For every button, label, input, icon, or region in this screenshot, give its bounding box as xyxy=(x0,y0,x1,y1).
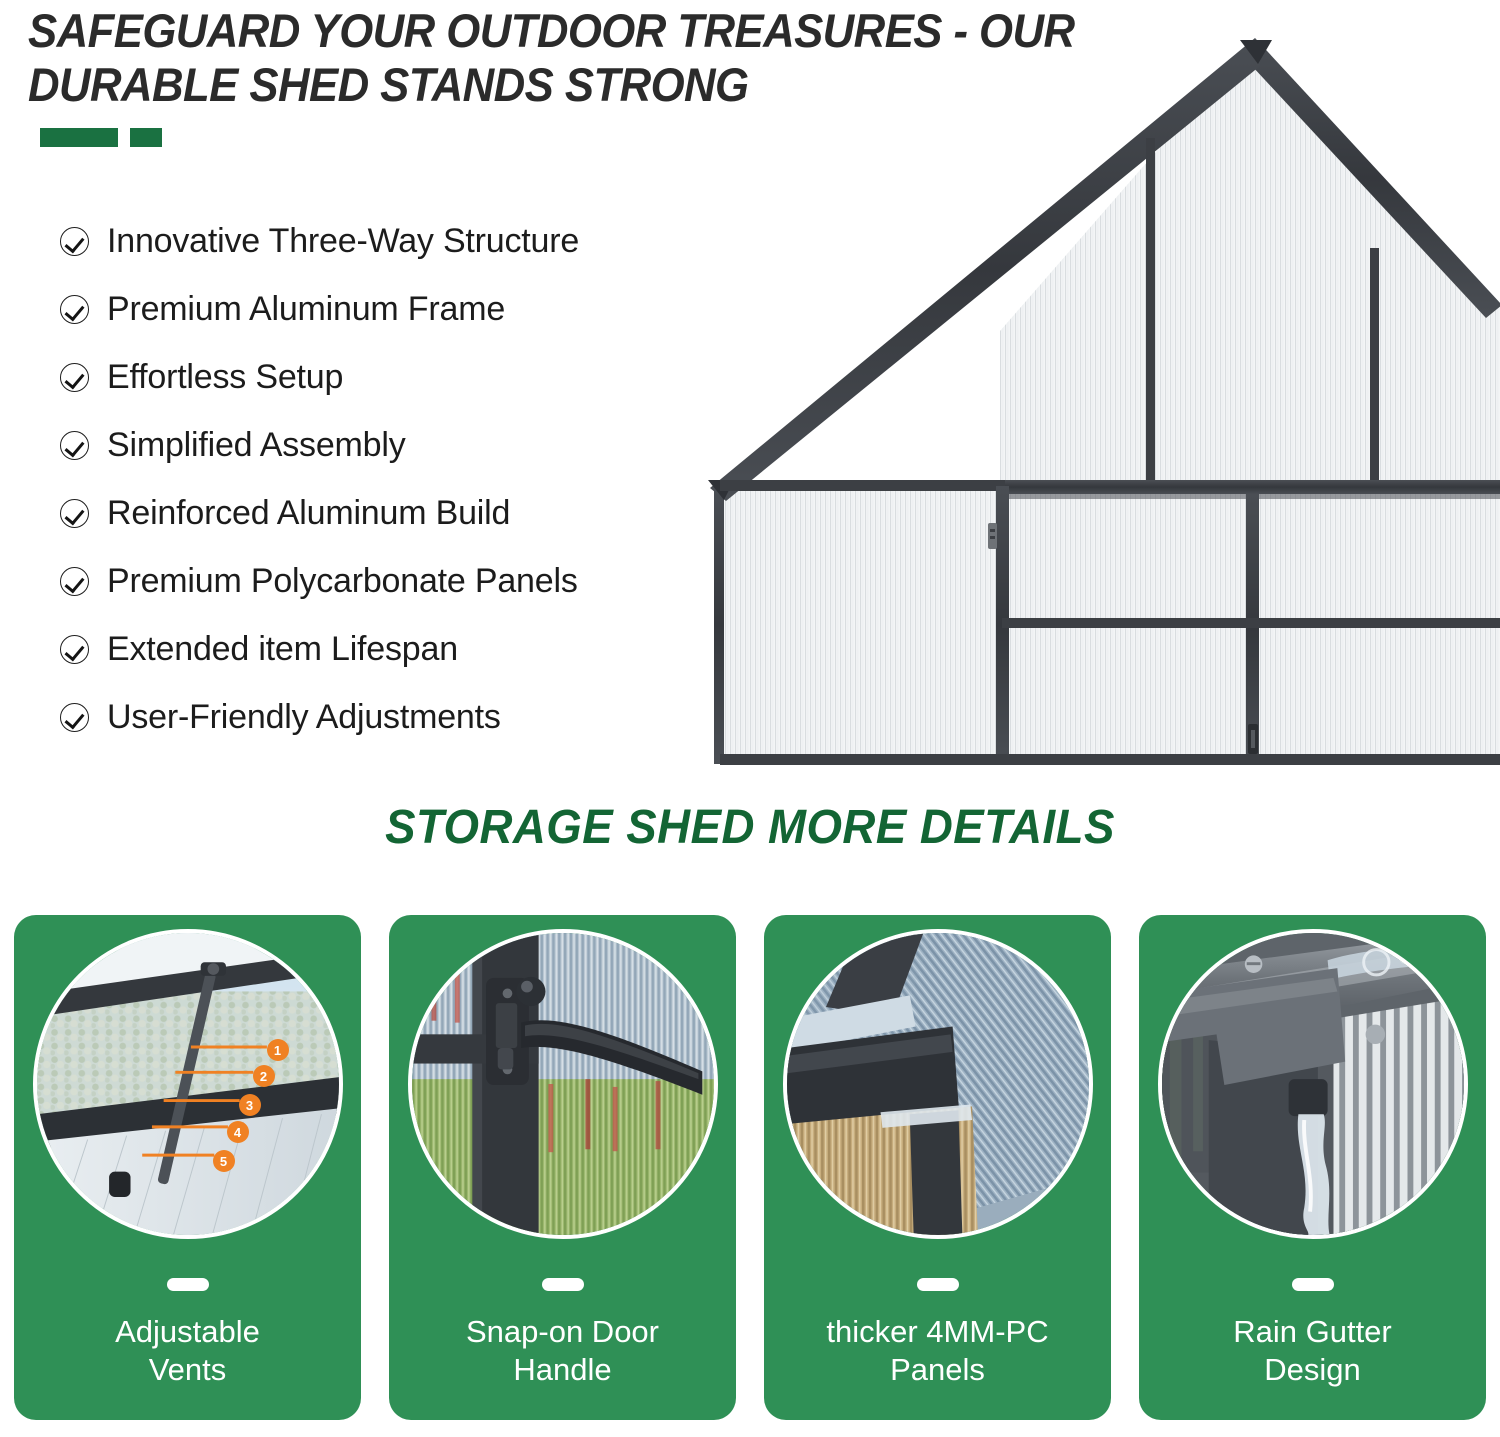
card-caption: thicker 4MM-PC Panels xyxy=(816,1313,1058,1389)
feature-item: User-Friendly Adjustments xyxy=(60,683,720,751)
detail-card-snap-on-door-handle[interactable]: Snap-on Door Handle xyxy=(389,915,736,1420)
section-title: STORAGE SHED MORE DETAILS xyxy=(38,800,1463,855)
feature-label: Extended item Lifespan xyxy=(107,630,458,669)
check-circle-icon xyxy=(60,567,89,596)
accent-bar-narrow xyxy=(130,128,162,147)
feature-label: User-Friendly Adjustments xyxy=(107,698,501,737)
card-divider xyxy=(917,1278,959,1291)
card-divider xyxy=(167,1278,209,1291)
detail-card-rain-gutter[interactable]: Rain Gutter Design xyxy=(1139,915,1486,1420)
callout-4: 4 xyxy=(227,1121,249,1143)
feature-label: Premium Aluminum Frame xyxy=(107,290,505,329)
check-circle-icon xyxy=(60,635,89,664)
card-caption: Rain Gutter Design xyxy=(1223,1313,1402,1389)
card-caption: Snap-on Door Handle xyxy=(456,1313,669,1389)
detail-card-adjustable-vents[interactable]: 1 2 3 4 5 Adjustable Vents xyxy=(14,915,361,1420)
card-divider xyxy=(1292,1278,1334,1291)
feature-item: Extended item Lifespan xyxy=(60,615,720,683)
feature-label: Reinforced Aluminum Build xyxy=(107,494,510,533)
check-circle-icon xyxy=(60,431,89,460)
shed-illustration xyxy=(680,18,1500,778)
check-circle-icon xyxy=(60,295,89,324)
card-divider xyxy=(542,1278,584,1291)
feature-label: Premium Polycarbonate Panels xyxy=(107,562,578,601)
feature-label: Innovative Three-Way Structure xyxy=(107,222,579,261)
detail-card-pc-panels[interactable]: thicker 4MM-PC Panels xyxy=(764,915,1111,1420)
feature-item: Premium Aluminum Frame xyxy=(60,275,720,343)
callout-2: 2 xyxy=(253,1065,275,1087)
feature-item: Premium Polycarbonate Panels xyxy=(60,547,720,615)
hero-section: SAFEGUARD YOUR OUTDOOR TREASURES - OUR D… xyxy=(0,0,1500,800)
callout-5: 5 xyxy=(213,1150,235,1172)
feature-list: Innovative Three-Way Structure Premium A… xyxy=(60,207,720,751)
feature-item: Reinforced Aluminum Build xyxy=(60,479,720,547)
photo-adjustable-vents: 1 2 3 4 5 xyxy=(33,929,343,1239)
detail-cards: 1 2 3 4 5 Adjustable Vents xyxy=(14,915,1486,1420)
feature-label: Effortless Setup xyxy=(107,358,343,397)
photo-door-handle xyxy=(408,929,718,1239)
feature-item: Effortless Setup xyxy=(60,343,720,411)
feature-item: Innovative Three-Way Structure xyxy=(60,207,720,275)
accent-bar-wide xyxy=(40,128,118,147)
accent-bars xyxy=(40,128,162,147)
callout-1: 1 xyxy=(267,1039,289,1061)
check-circle-icon xyxy=(60,499,89,528)
check-circle-icon xyxy=(60,363,89,392)
photo-rain-gutter xyxy=(1158,929,1468,1239)
callout-3: 3 xyxy=(239,1094,261,1116)
feature-label: Simplified Assembly xyxy=(107,426,406,465)
feature-item: Simplified Assembly xyxy=(60,411,720,479)
check-circle-icon xyxy=(60,703,89,732)
check-circle-icon xyxy=(60,227,89,256)
card-caption: Adjustable Vents xyxy=(105,1313,270,1389)
photo-pc-panels xyxy=(783,929,1093,1239)
